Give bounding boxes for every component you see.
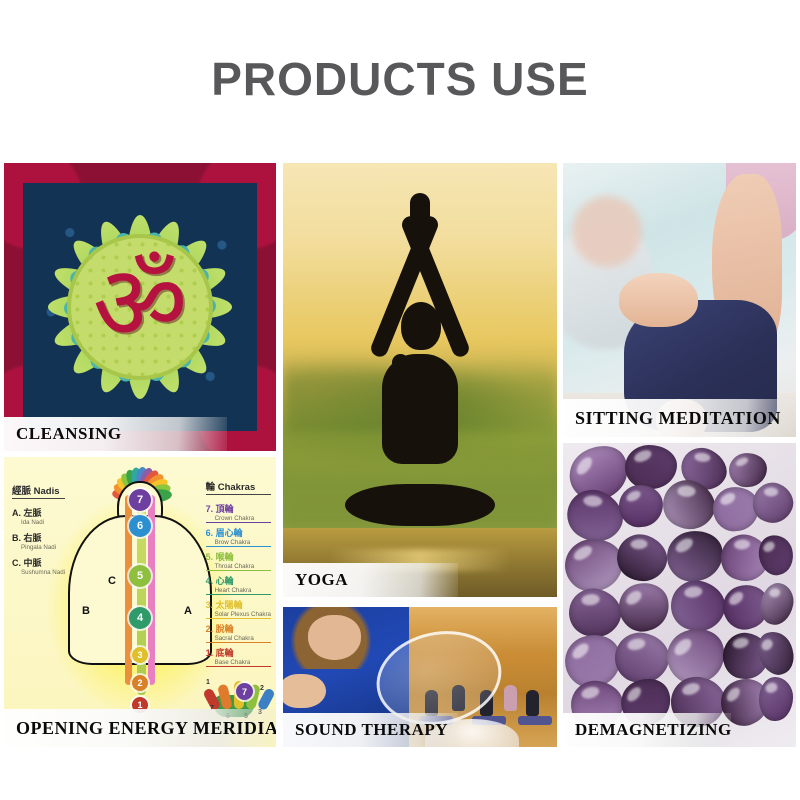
crossed-legs	[345, 484, 495, 526]
blurred-arm	[572, 196, 642, 267]
products-use-page: PRODUCTS USE ॐ CLEANSING 7654321 經脈 Nadi…	[0, 0, 800, 800]
nadi-label-cn: B. 右脈	[12, 531, 65, 544]
nadi-legend-item: C. 中脈Sushumna Nadi	[12, 556, 65, 576]
pointer-label-a: A	[184, 605, 192, 617]
head	[401, 302, 441, 350]
chakra-legend-item: 7. 頂輪Crown Chakra	[206, 502, 271, 523]
nadi-label-en: Ida Nadi	[12, 519, 65, 526]
panel-label-opening-energy-meridians: OPENING ENERGY MERIDIANS	[4, 709, 276, 747]
chakra-point-6: 6	[129, 515, 151, 537]
chakra-label-cn: 3. 太陽輪	[206, 598, 271, 611]
chakra-label-en: Throat Chakra	[206, 563, 271, 570]
panel-demagnetizing[interactable]: DEMAGNETIZING	[563, 443, 796, 747]
pointer-label-b: B	[82, 605, 90, 617]
chakra-point-2: 2	[132, 675, 148, 691]
chakra-point-5: 5	[129, 565, 151, 587]
nadi-label-en: Pingala Nadi	[12, 544, 65, 551]
yoga-mat	[518, 716, 552, 725]
chakra-label-en: Brow Chakra	[206, 539, 271, 546]
chakra-label-en: Heart Chakra	[206, 587, 271, 594]
chakra-label-en: Solar Plexus Chakra	[206, 611, 271, 618]
chakra-point-3: 3	[132, 647, 148, 663]
nadi-legend-item: B. 右脈Pingala Nadi	[12, 531, 65, 551]
nadi-label-cn: C. 中脈	[12, 556, 65, 569]
om-symbol-icon: ॐ	[93, 251, 188, 355]
chakras-legend: 輪 Chakras 7. 頂輪Crown Chakra6. 眉心輪Brow Ch…	[206, 479, 271, 670]
panel-label-cleansing: CLEANSING	[4, 417, 227, 451]
nadi-label-en: Sushumna Nadi	[12, 569, 65, 576]
chakra-legend-item: 5. 喉輪Throat Chakra	[206, 550, 271, 571]
nadi-label-cn: A. 左脈	[12, 506, 65, 519]
torso	[382, 354, 458, 464]
chakra-label-cn: 2. 脫輪	[206, 622, 271, 635]
chakra-label-cn: 1. 底輪	[206, 646, 271, 659]
panel-label-sound-therapy: SOUND THERAPY	[283, 713, 458, 747]
chakra-label-en: Crown Chakra	[206, 515, 271, 522]
practitioner-face	[308, 615, 361, 660]
panel-yoga[interactable]: YOGA	[283, 163, 557, 597]
chakra-label-en: Sacral Chakra	[206, 635, 271, 642]
nadis-legend: 經脈 Nadis A. 左脈Ida NadiB. 右脈Pingala NadiC…	[12, 483, 65, 581]
chakra-label-cn: 6. 眉心輪	[206, 526, 271, 539]
chakra-label-cn: 5. 喉輪	[206, 550, 271, 563]
panel-sitting-meditation[interactable]: SITTING MEDITATION	[563, 163, 796, 437]
panel-sound-therapy[interactable]: SOUND THERAPY	[283, 607, 557, 747]
panel-opening-energy-meridians[interactable]: 7654321 經脈 Nadis A. 左脈Ida NadiB. 右脈Pinga…	[4, 457, 276, 747]
chakra-legend-item: 3. 太陽輪Solar Plexus Chakra	[206, 598, 271, 619]
chakra-point-7: 7	[129, 489, 151, 511]
hand-chakra-point-7: 7	[236, 683, 253, 700]
hand-number-2: 2	[260, 685, 264, 692]
chakra-point-4: 4	[129, 607, 151, 629]
chakras-legend-title: 輪 Chakras	[206, 479, 271, 495]
page-title: PRODUCTS USE	[0, 52, 800, 106]
chakra-legend-item: 2. 脫輪Sacral Chakra	[206, 622, 271, 643]
panel-label-yoga: YOGA	[283, 563, 458, 597]
chakra-legend-item: 6. 眉心輪Brow Chakra	[206, 526, 271, 547]
prayer-hands	[410, 193, 430, 227]
pointer-label-c-main: C	[108, 575, 116, 587]
panel-label-demagnetizing: DEMAGNETIZING	[563, 713, 731, 747]
seated-participant	[526, 690, 539, 716]
chakra-legend-item: 1. 底輪Base Chakra	[206, 646, 271, 667]
seated-participant	[504, 685, 517, 711]
hair-bun	[392, 354, 409, 371]
hand-number-1: 1	[206, 679, 210, 686]
chakra-label-cn: 7. 頂輪	[206, 502, 271, 515]
practitioner-hand	[283, 674, 326, 708]
panel-cleansing[interactable]: ॐ CLEANSING	[4, 163, 276, 451]
nadi-legend-item: A. 左脈Ida Nadi	[12, 506, 65, 526]
panel-label-sitting-meditation: SITTING MEDITATION	[563, 399, 796, 437]
nadis-legend-title: 經脈 Nadis	[12, 483, 65, 499]
chakra-legend-item: 4. 心輪Heart Chakra	[206, 574, 271, 595]
mudra-hand	[619, 273, 698, 328]
chakra-label-cn: 4. 心輪	[206, 574, 271, 587]
